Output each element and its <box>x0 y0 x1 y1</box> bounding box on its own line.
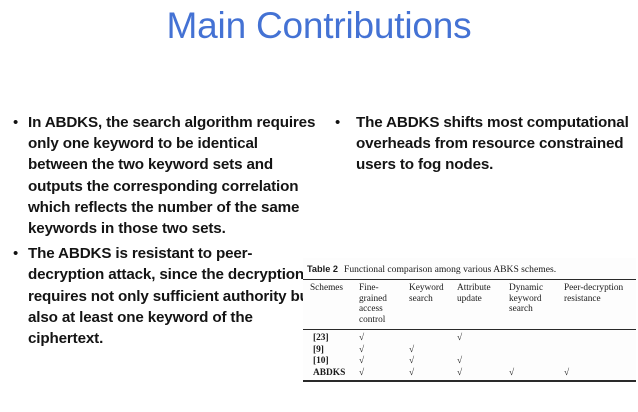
cell-keyword-search: √ <box>409 345 457 356</box>
table-header-row: Schemes Fine-grained access control Keyw… <box>303 280 636 330</box>
cell-dynamic-keyword-search <box>509 356 564 367</box>
cell-peer-decryption-resistance <box>564 356 636 367</box>
cell-keyword-search <box>409 330 457 345</box>
table-caption: Table 2Functional comparison among vario… <box>303 258 636 279</box>
cell-attribute-update: √ <box>457 356 509 367</box>
bullet-text: The ABDKS is resistant to peer-decryptio… <box>28 243 316 349</box>
cell-fine-grained-access-control: √ <box>359 330 409 345</box>
column-header-dynamic-keyword-search: Dynamic keyword search <box>509 280 564 330</box>
column-header-keyword-search: Keyword search <box>409 280 457 330</box>
right-bullet-column: • The ABDKS shifts most computational ov… <box>330 112 630 180</box>
table-row: [10] √ √ √ <box>303 356 636 367</box>
cell-dynamic-keyword-search <box>509 330 564 345</box>
cell-fine-grained-access-control: √ <box>359 345 409 356</box>
functional-comparison-table: Schemes Fine-grained access control Keyw… <box>303 279 636 381</box>
cell-scheme: [23] <box>303 330 359 345</box>
cell-scheme: [9] <box>303 345 359 356</box>
bullet-text: The ABDKS shifts most computational over… <box>356 112 630 176</box>
table-caption-text: Functional comparison among various ABKS… <box>344 264 556 275</box>
table-row: ABDKS √ √ √ √ √ <box>303 368 636 381</box>
cell-attribute-update: √ <box>457 368 509 381</box>
cell-dynamic-keyword-search: √ <box>509 368 564 381</box>
cell-keyword-search: √ <box>409 368 457 381</box>
list-item: • The ABDKS shifts most computational ov… <box>330 112 630 176</box>
cell-scheme: [10] <box>303 356 359 367</box>
cell-scheme: ABDKS <box>303 368 359 381</box>
cell-dynamic-keyword-search <box>509 345 564 356</box>
list-item: • In ABDKS, the search algorithm require… <box>6 112 316 239</box>
left-bullet-column: • In ABDKS, the search algorithm require… <box>6 112 316 353</box>
cell-peer-decryption-resistance: √ <box>564 368 636 381</box>
table-row: [9] √ √ <box>303 345 636 356</box>
column-header-attribute-update: Attribute update <box>457 280 509 330</box>
column-header-peer-decryption-resistance: Peer-decryption resistance <box>564 280 636 330</box>
bullet-text: In ABDKS, the search algorithm requires … <box>28 112 316 239</box>
cell-attribute-update: √ <box>457 330 509 345</box>
column-header-fine-grained-access-control: Fine-grained access control <box>359 280 409 330</box>
list-item: • The ABDKS is resistant to peer-decrypt… <box>6 243 316 349</box>
table-bottom-rule <box>303 381 636 382</box>
cell-fine-grained-access-control: √ <box>359 368 409 381</box>
bullet-dot-icon: • <box>330 112 356 133</box>
comparison-table-figure: Table 2Functional comparison among vario… <box>303 258 636 382</box>
table-row: [23] √ √ <box>303 330 636 345</box>
page-title: Main Contributions <box>0 4 638 48</box>
column-header-schemes: Schemes <box>303 280 359 330</box>
cell-keyword-search: √ <box>409 356 457 367</box>
bullet-dot-icon: • <box>6 112 28 133</box>
table-caption-label: Table 2 <box>307 264 338 274</box>
bullet-dot-icon: • <box>6 243 28 264</box>
cell-fine-grained-access-control: √ <box>359 356 409 367</box>
cell-attribute-update <box>457 345 509 356</box>
cell-peer-decryption-resistance <box>564 330 636 345</box>
cell-peer-decryption-resistance <box>564 345 636 356</box>
